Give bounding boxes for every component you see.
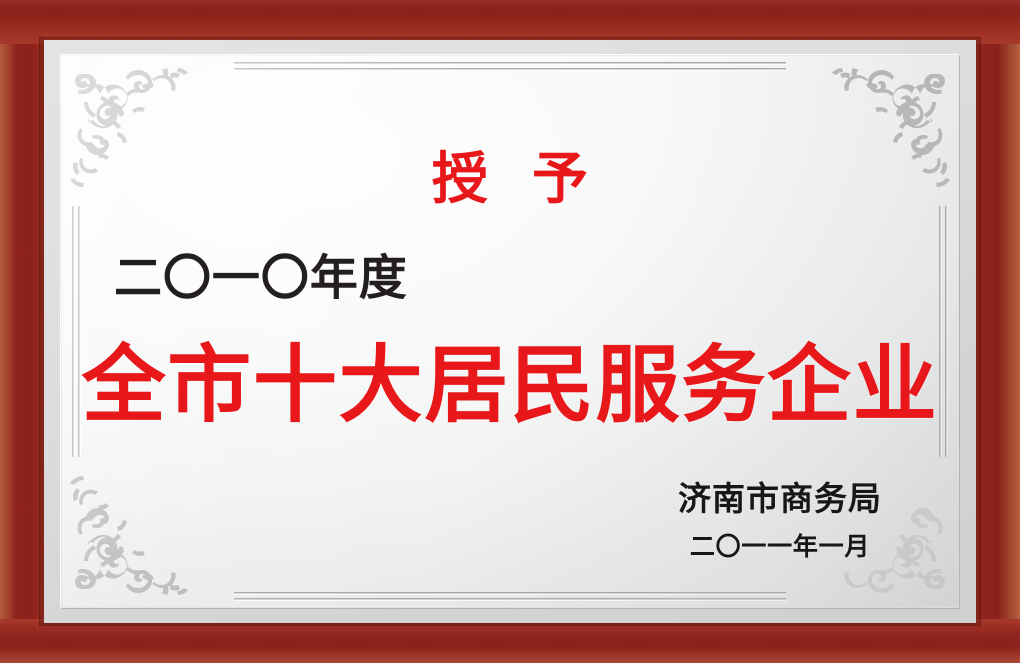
award-verb: 授 予 — [62, 134, 958, 215]
award-year-line: 二〇一〇年度 — [114, 238, 408, 308]
issue-date: 二〇一一年一月 — [678, 527, 882, 563]
certificate-content: 授 予 二〇一〇年度 全市十大居民服务企业 济南市商务局 二〇一一年一月 — [62, 56, 958, 607]
award-plaque: 授 予 二〇一〇年度 全市十大居民服务企业 济南市商务局 二〇一一年一月 — [0, 0, 1020, 663]
award-title: 全市十大居民服务企业 — [62, 318, 958, 439]
certificate-field: 授 予 二〇一〇年度 全市十大居民服务企业 济南市商务局 二〇一一年一月 — [62, 56, 958, 607]
issuer-block: 济南市商务局 二〇一一年一月 — [678, 480, 882, 563]
issuer-name: 济南市商务局 — [678, 480, 882, 519]
